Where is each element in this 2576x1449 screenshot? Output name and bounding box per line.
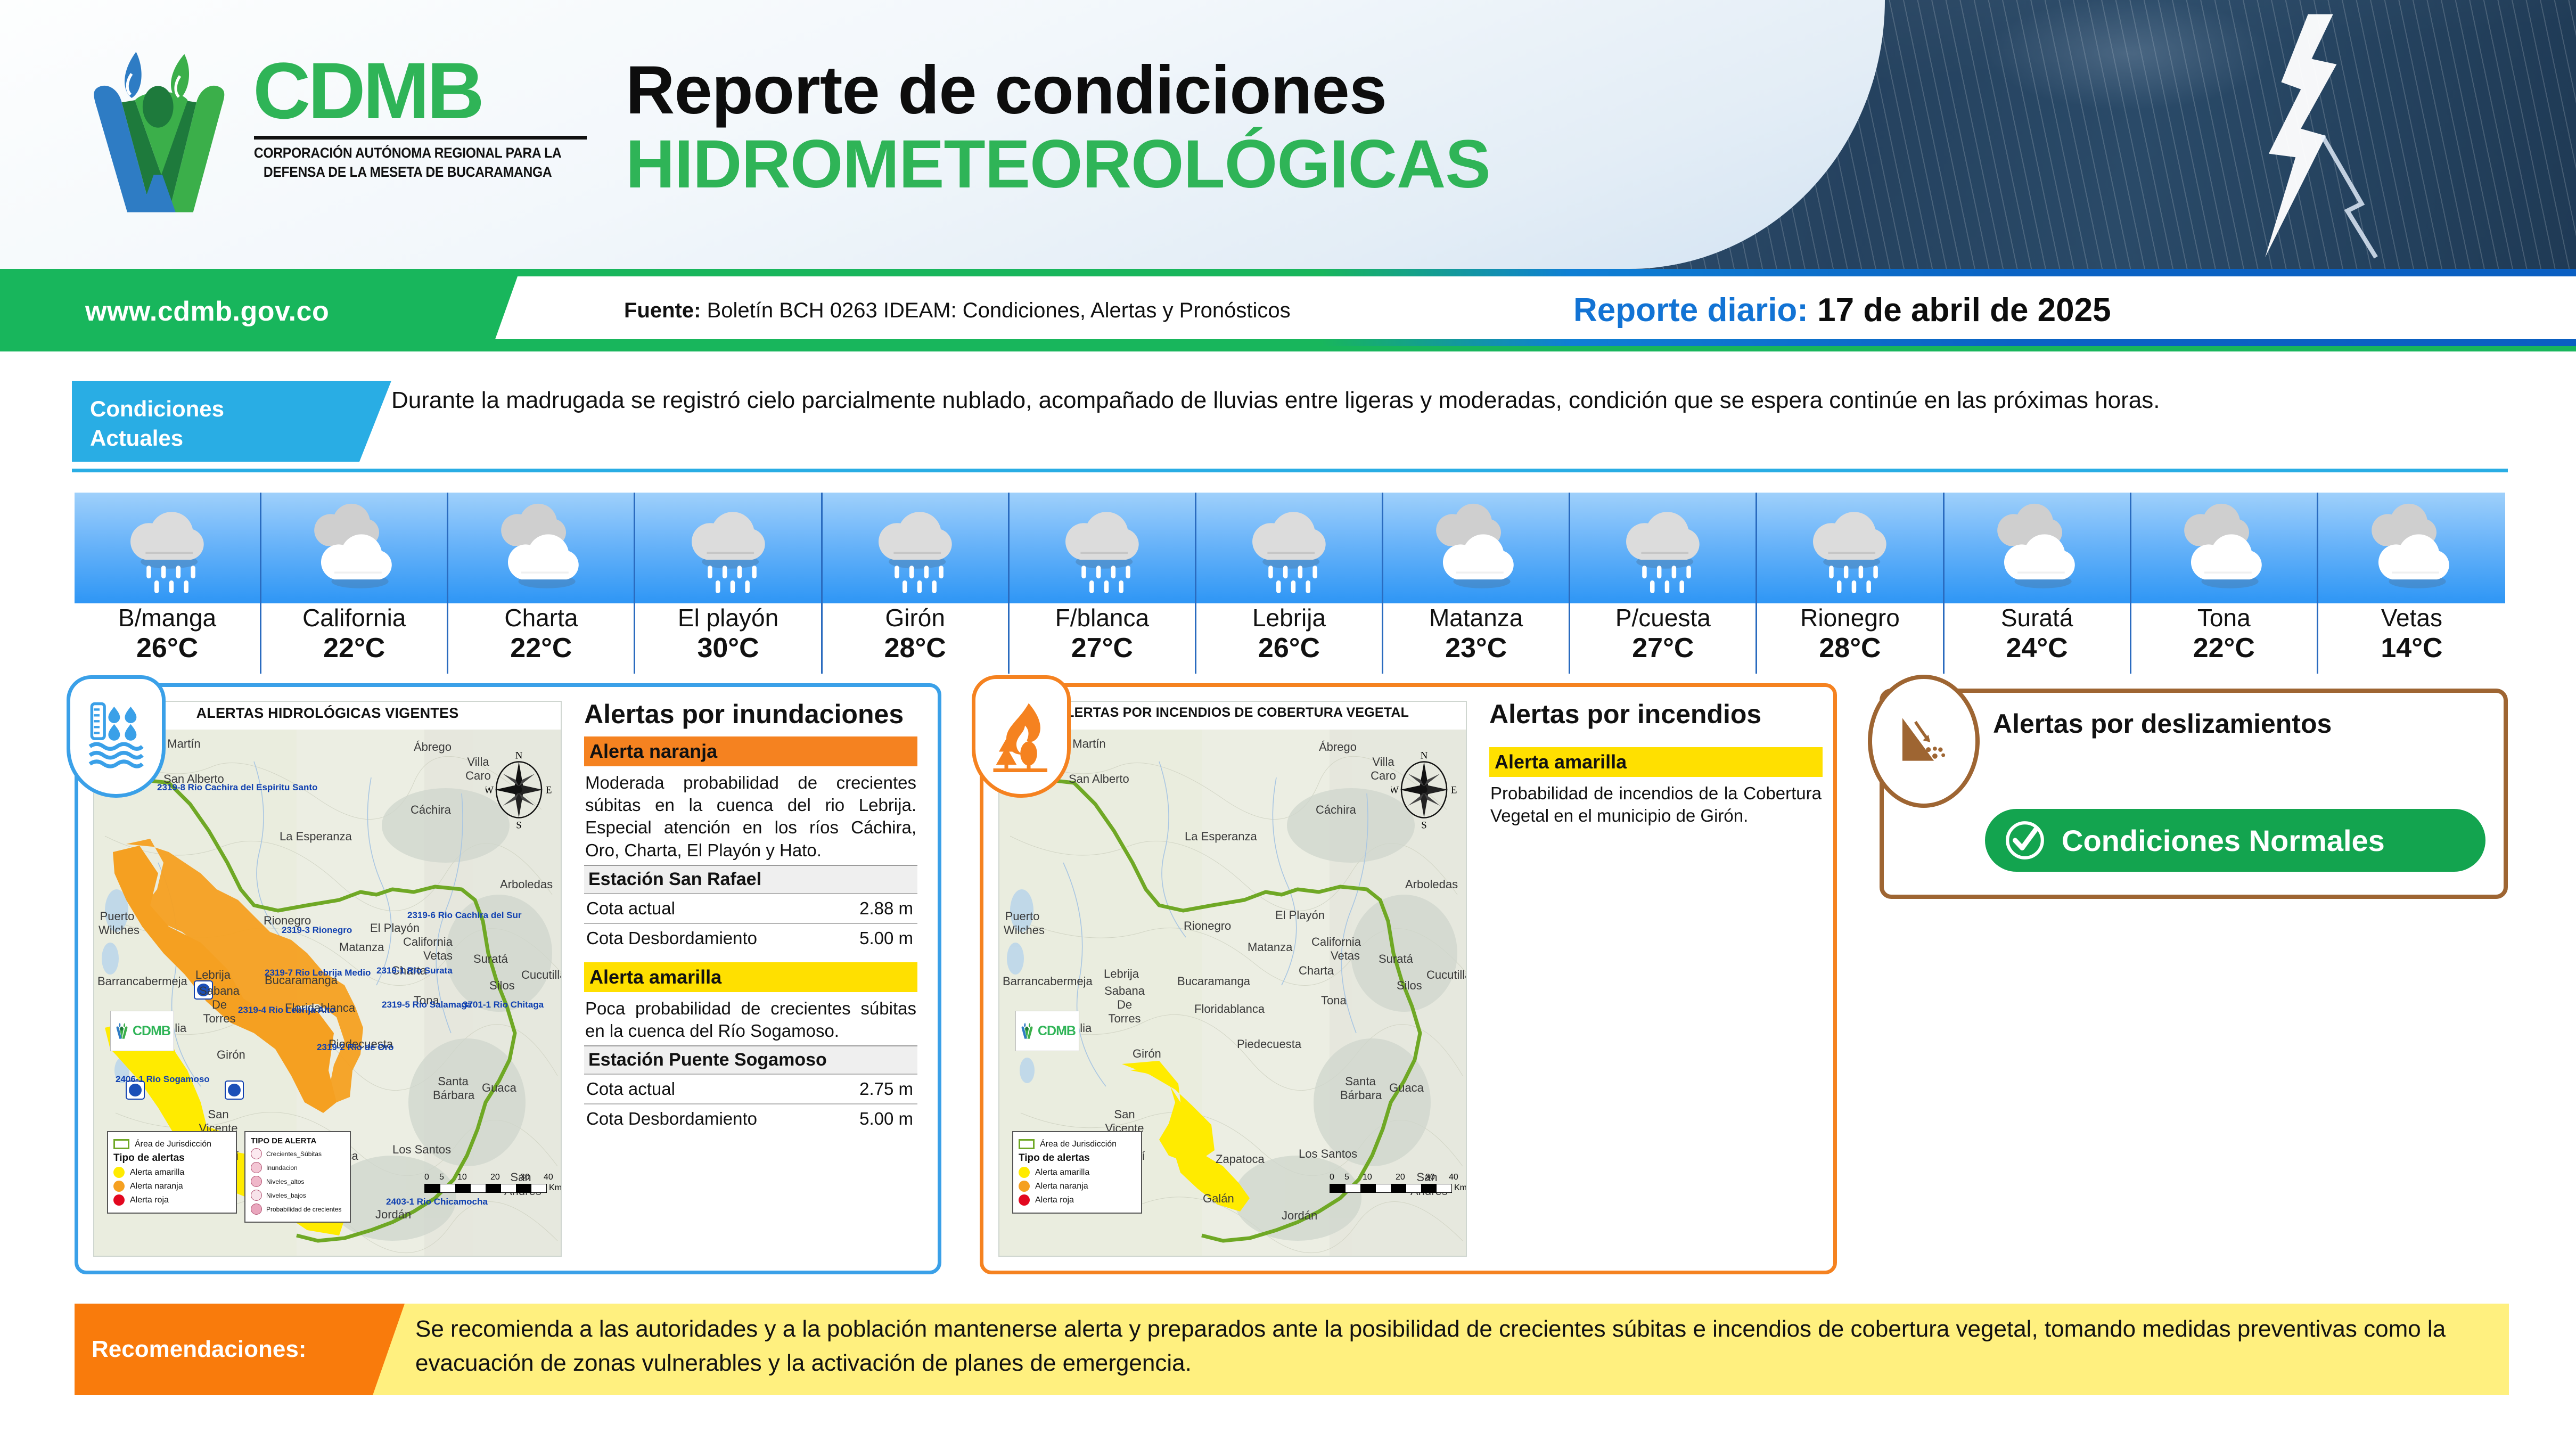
city-temperature: 28°C <box>1819 632 1881 665</box>
map-label-puerto-wilches: Puerto Wilches <box>99 910 136 937</box>
hydro-map-cdmb-logo: CDMB <box>110 1011 174 1051</box>
logo-subtitle-line2: DEFENSA DE LA MESETA DE BUCARAMANGA <box>253 163 562 182</box>
temperature-column: Vetas14°C <box>2318 493 2505 674</box>
temperature-column: Charta22°C <box>448 493 635 674</box>
city-temperature: 26°C <box>136 632 198 665</box>
legend-jurisdiction-label: Área de Jurisdicción <box>1040 1140 1117 1149</box>
legend-dot-red <box>113 1194 125 1206</box>
city-name: Girón <box>885 604 945 632</box>
city-temperature: 22°C <box>323 632 385 665</box>
rain-cloud-icon <box>117 503 218 593</box>
fire-alert-band-yellow: Alerta amarilla <box>1489 747 1823 777</box>
cota-actual-label-2: Cota actual <box>586 1079 675 1099</box>
hydro-map[interactable]: ALERTAS HIDROLÓGICAS VIGENTES <box>93 701 562 1257</box>
legend-dot-red <box>1019 1194 1030 1206</box>
rain-cloud-icon <box>1238 503 1340 593</box>
current-conditions-tab-line2: Actuales <box>90 424 391 453</box>
hydro-map-logo-text: CDMB <box>133 1024 170 1039</box>
scale-tick-30: 30 <box>1425 1173 1435 1182</box>
current-conditions-text: Durante la madrugada se registró cielo p… <box>391 381 2508 462</box>
map-label-galan: Galán <box>1203 1192 1234 1206</box>
map-label-matanza: Matanza <box>339 940 384 954</box>
city-temperature: 30°C <box>697 632 759 665</box>
cota-desbordamiento-value: 5.00 m <box>859 928 913 948</box>
fire-map-scalebar: 0 5 10 20 30 40 Km <box>1330 1173 1467 1193</box>
flood-alert-text-yellow: Poca probabilidad de crecientes súbitas … <box>584 992 917 1045</box>
scale-tick-10: 10 <box>457 1173 467 1182</box>
map-label-vetas: Vetas <box>423 949 453 963</box>
map-label-san-alberto: San Alberto <box>1069 772 1129 786</box>
temperature-meta: California22°C <box>261 603 448 674</box>
city-name: California <box>302 604 406 632</box>
city-name: Matanza <box>1429 604 1523 632</box>
map-label-cucutilla: Cucutilla <box>1426 968 1467 982</box>
map-basin-salamaga: 2319-5 Rio Salamaga <box>382 1000 422 1010</box>
compass-rose-icon: N S W E <box>1391 750 1457 830</box>
title-line-1: Reporte de condiciones <box>626 56 1490 126</box>
city-name: Lebrija <box>1252 604 1326 632</box>
cota-actual-value: 2.88 m <box>859 898 913 919</box>
temperature-column: P/cuesta27°C <box>1570 493 1757 674</box>
legend-type-orange: Alerta naranja <box>130 1182 183 1191</box>
temperature-meta: B/manga26°C <box>75 603 261 674</box>
mini-logo-icon <box>114 1022 130 1040</box>
weather-icon-sky <box>1945 493 2131 603</box>
map-basin-lebrija-medio: 2319-7 Rio Lebrija Medio <box>265 968 305 978</box>
partly-cloudy-icon <box>1987 503 2088 593</box>
rain-cloud-icon <box>1052 503 1153 593</box>
map-label-cucutilla: Cucutilla <box>521 968 562 982</box>
cota-desbordamiento-label: Cota Desbordamiento <box>586 928 757 948</box>
map-label-los-santos: Los Santos <box>392 1143 451 1157</box>
fire-map[interactable]: ALERTAS POR INCENDIOS DE COBERTURA VEGET… <box>998 701 1467 1257</box>
forest-fire-icon <box>991 701 1051 773</box>
fire-map-legend: Área de Jurisdicción Tipo de alertas Ale… <box>1012 1131 1142 1214</box>
weather-icon-sky <box>1010 493 1196 603</box>
map-label-el-playon: El Playón <box>1275 908 1325 922</box>
map-label-surata: Suratá <box>1379 952 1413 966</box>
flood-alerts-text-column: Alertas por inundaciones Alerta naranja … <box>584 700 917 1133</box>
hydro-map-legend: Área de Jurisdicción Tipo de alertas Ale… <box>107 1131 237 1214</box>
jurisdiction-swatch <box>113 1139 129 1149</box>
temperature-strip: B/manga26°C California22°C Charta22°C El… <box>75 493 2505 674</box>
page-title: Reporte de condiciones HIDROMETEOROLÓGIC… <box>626 56 1490 200</box>
landslide-alerts-panel: Alertas por deslizamientos Condiciones N… <box>1880 689 2508 899</box>
alert-kind-0: Crecientes_Súbitas <box>266 1150 322 1158</box>
map-label-california: California <box>403 935 453 949</box>
weather-icon-sky <box>1196 493 1383 603</box>
landslide-status-text: Condiciones Normales <box>2062 823 2385 858</box>
legend-type-red: Alerta roja <box>130 1196 169 1205</box>
cdmb-logo-mark <box>75 45 250 221</box>
city-name: Rionegro <box>1800 604 1900 632</box>
flood-alert-band-yellow: Alerta amarilla <box>584 962 917 992</box>
svg-text:N: N <box>1421 750 1428 761</box>
city-temperature: 28°C <box>884 632 946 665</box>
daily-report-date: 17 de abril de 2025 <box>1817 292 2111 329</box>
city-temperature: 26°C <box>1258 632 1320 665</box>
map-label-abrego: Ábrego <box>1319 740 1357 754</box>
map-label-charta: Charta <box>1299 964 1334 978</box>
scale-bar-graphic <box>1330 1184 1452 1193</box>
temperature-meta: P/cuesta27°C <box>1570 603 1757 674</box>
temperature-meta: Suratá24°C <box>1945 603 2131 674</box>
temperature-column: California22°C <box>261 493 448 674</box>
temperature-column: F/blanca27°C <box>1010 493 1196 674</box>
recommendations-section: Recomendaciones: Se recomienda a las aut… <box>75 1304 2509 1395</box>
temperature-meta: Rionegro28°C <box>1757 603 1944 674</box>
rain-cloud-icon <box>865 503 966 593</box>
map-label-la-esperanza: La Esperanza <box>1185 830 1257 844</box>
table-row: Cota Desbordamiento 5.00 m <box>584 1103 917 1133</box>
map-label-piedecuesta: Piedecuesta <box>1237 1037 1301 1051</box>
fire-panel-heading: Alertas por incendios <box>1489 700 1823 729</box>
temperature-column: Tona22°C <box>2131 493 2318 674</box>
legend-types-title: Tipo de alertas <box>1019 1152 1136 1164</box>
title-line-2: HIDROMETEOROLÓGICAS <box>626 129 1490 200</box>
rain-cloud-icon <box>1799 503 1900 593</box>
map-label-lebrija: Lebrija <box>1104 967 1139 981</box>
cota-desbordamiento-label-2: Cota Desbordamiento <box>586 1109 757 1129</box>
legend-dot-yellow <box>113 1167 125 1178</box>
svg-text:W: W <box>486 784 494 796</box>
hydro-map-alert-kind-legend: TIPO DE ALERTA Crecientes_Súbitas Inunda… <box>244 1131 351 1223</box>
legend-dot-yellow <box>1019 1167 1030 1178</box>
daily-report-line: Reporte diario: 17 de abril de 2025 <box>1573 291 2111 329</box>
partly-cloudy-icon <box>303 503 405 593</box>
svg-text:E: E <box>546 784 552 796</box>
weather-icon-sky <box>635 493 822 603</box>
fire-badge <box>972 675 1071 798</box>
city-temperature: 24°C <box>2006 632 2068 665</box>
weather-icon-sky <box>75 493 261 603</box>
hydro-map-scalebar: 0 5 10 20 30 40 Km <box>424 1173 562 1193</box>
temperature-meta: Matanza23°C <box>1383 603 1570 674</box>
weather-icon-sky <box>1757 493 1944 603</box>
map-basin-sogamoso: 2406-1 Rio Sogamoso <box>116 1075 156 1085</box>
logo-subtitle-line1: CORPORACIÓN AUTÓNOMA REGIONAL PARA LA <box>253 144 562 163</box>
map-label-surata: Suratá <box>473 952 508 966</box>
map-label-los-santos: Los Santos <box>1299 1147 1357 1161</box>
map-label-california: California <box>1311 935 1361 949</box>
flood-badge <box>67 675 166 798</box>
fire-alert-text: Probabilidad de incendios de la Cobertur… <box>1489 777 1823 830</box>
scale-tick-5: 5 <box>1344 1173 1349 1182</box>
page-header: CDMB CORPORACIÓN AUTÓNOMA REGIONAL PARA … <box>0 0 2576 269</box>
current-conditions-underline <box>72 469 2508 472</box>
table-row: Cota actual 2.75 m <box>584 1074 917 1103</box>
scale-bar-graphic <box>424 1184 547 1193</box>
scale-tick-40: 40 <box>544 1173 553 1182</box>
cota-desbordamiento-value-2: 5.00 m <box>859 1109 913 1129</box>
map-label-tona: Tona <box>1321 994 1347 1008</box>
check-circle-icon <box>2003 818 2047 862</box>
recommendations-text: Se recomienda a las autoridades y a la p… <box>415 1312 2503 1380</box>
scale-tick-30: 30 <box>520 1173 530 1182</box>
city-temperature: 27°C <box>1632 632 1694 665</box>
map-label-silos: Silos <box>1397 979 1422 993</box>
map-label-sabana-de-torres: Sabana De Torres <box>196 984 242 1026</box>
alert-kind-icon-0 <box>251 1148 262 1159</box>
map-label-cachira: Cáchira <box>1316 803 1356 817</box>
table-row: Cota actual 2.88 m <box>584 893 917 923</box>
compass-rose-icon: N S W E <box>486 750 552 830</box>
temperature-meta: Lebrija26°C <box>1196 603 1383 674</box>
landslide-panel-heading: Alertas por deslizamientos <box>1993 709 2332 739</box>
partly-cloudy-icon <box>490 503 592 593</box>
temperature-meta: El playón30°C <box>635 603 822 674</box>
info-bar: www.cdmb.gov.co Fuente: Boletín BCH 0263… <box>0 269 2576 346</box>
temperature-meta: Girón28°C <box>823 603 1010 674</box>
fire-alerts-text-column: Alertas por incendios Alerta amarilla Pr… <box>1489 700 1823 830</box>
scale-tick-0: 0 <box>1330 1173 1334 1182</box>
city-name: El playón <box>678 604 778 632</box>
legend-types-title: Tipo de alertas <box>113 1152 231 1164</box>
svg-text:N: N <box>515 750 523 761</box>
map-label-barrancabermeja: Barrancabermeja <box>97 975 187 988</box>
scale-tick-5: 5 <box>439 1173 444 1182</box>
city-name: Vetas <box>2381 604 2442 632</box>
map-label-matanza: Matanza <box>1248 940 1292 954</box>
weather-icon-sky <box>1383 493 1570 603</box>
legend-dot-orange <box>1019 1181 1030 1192</box>
map-label-barrancabermeja: Barrancabermeja <box>1003 975 1093 988</box>
temperature-column: B/manga26°C <box>75 493 261 674</box>
map-label-santa-barbara: Santa Bárbara <box>433 1075 473 1102</box>
current-conditions-tab-line1: Condiciones <box>90 395 391 424</box>
alert-kind-icon-1 <box>251 1162 262 1173</box>
weather-icon-sky <box>1570 493 1757 603</box>
weather-icon-sky <box>823 493 1010 603</box>
lightning-icon <box>2193 11 2416 261</box>
alert-kind-icon-4 <box>251 1204 262 1215</box>
scale-unit: Km <box>549 1183 562 1193</box>
map-basin-lebrija-alto: 2319-4 Rio Lebrija Alto <box>238 1005 285 1016</box>
cota-actual-label: Cota actual <box>586 898 675 919</box>
legend-type-yellow: Alerta amarilla <box>130 1168 184 1177</box>
table-row: Cota Desbordamiento 5.00 m <box>584 923 917 953</box>
logo-divider <box>254 136 587 140</box>
city-temperature: 23°C <box>1445 632 1507 665</box>
legend-type-orange: Alerta naranja <box>1035 1182 1088 1191</box>
scale-unit: Km <box>1454 1183 1467 1193</box>
map-label-santa-barbara: Santa Bárbara <box>1340 1075 1381 1102</box>
weather-icon-sky <box>448 493 635 603</box>
map-label-abrego: Ábrego <box>414 740 452 754</box>
map-label-vetas: Vetas <box>1331 949 1360 963</box>
alert-kind-4: Probabilidad de crecientes <box>266 1206 341 1213</box>
svg-text:S: S <box>1421 820 1426 830</box>
temperature-column: Matanza23°C <box>1383 493 1570 674</box>
flood-alert-band-orange: Alerta naranja <box>584 736 917 766</box>
map-label-giron: Girón <box>1133 1047 1161 1061</box>
alert-kind-icon-2 <box>251 1176 262 1187</box>
mini-logo-icon <box>1019 1022 1035 1040</box>
fire-map-logo-text: CDMB <box>1038 1024 1076 1039</box>
map-label-jordan: Jordán <box>1282 1209 1317 1223</box>
alert-kind-title: TIPO DE ALERTA <box>251 1136 344 1145</box>
fire-alerts-panel: ALERTAS POR INCENDIOS DE COBERTURA VEGET… <box>980 683 1837 1274</box>
jurisdiction-swatch <box>1019 1139 1035 1149</box>
source-text: Boletín BCH 0263 IDEAM: Condiciones, Ale… <box>707 299 1291 322</box>
partly-cloudy-icon <box>2173 503 2275 593</box>
map-basin-cachira-sur: 2319-6 Rio Cachira del Sur <box>407 911 448 921</box>
map-label-bucaramanga: Bucaramanga <box>1177 975 1250 988</box>
legend-type-yellow: Alerta amarilla <box>1035 1168 1089 1177</box>
alert-kind-2: Niveles_altos <box>266 1178 304 1185</box>
legend-jurisdiction-label: Área de Jurisdicción <box>135 1140 211 1149</box>
city-name: F/blanca <box>1055 604 1149 632</box>
scale-tick-40: 40 <box>1449 1173 1458 1182</box>
temperature-meta: F/blanca27°C <box>1010 603 1196 674</box>
map-label-zapatoca: Zapatoca <box>1216 1152 1265 1166</box>
alert-kind-1: Inundacion <box>266 1164 298 1172</box>
temperature-column: Girón28°C <box>823 493 1010 674</box>
source-label: Fuente: <box>624 299 701 322</box>
temperature-meta: Tona22°C <box>2131 603 2318 674</box>
cdmb-logo: CDMB CORPORACIÓN AUTÓNOMA REGIONAL PARA … <box>75 45 612 226</box>
map-label-arboledas: Arboledas <box>500 878 553 891</box>
svg-text:E: E <box>1451 784 1457 796</box>
source-line: Fuente: Boletín BCH 0263 IDEAM: Condicio… <box>624 299 1291 323</box>
flood-alerts-panel: ALERTAS HIDROLÓGICAS VIGENTES <box>75 683 941 1274</box>
current-conditions-section: Condiciones Actuales Durante la madrugad… <box>72 381 2508 462</box>
map-label-guaca: Guaca <box>482 1081 516 1095</box>
map-basin-cachira-espiritu-santo: 2319-8 Rio Cachira del Espiritu Santo <box>157 783 207 793</box>
scale-tick-10: 10 <box>1363 1173 1372 1182</box>
temperature-meta: Charta22°C <box>448 603 635 674</box>
flood-station-san-rafael: Estación San Rafael <box>584 865 917 893</box>
temperature-column: Suratá24°C <box>1945 493 2131 674</box>
svg-text:W: W <box>1391 784 1399 796</box>
map-label-la-esperanza: La Esperanza <box>280 830 352 844</box>
scale-tick-0: 0 <box>424 1173 429 1182</box>
flood-panel-heading: Alertas por inundaciones <box>584 700 917 729</box>
current-conditions-tab: Condiciones Actuales <box>72 381 391 462</box>
daily-report-label: Reporte diario: <box>1573 292 1808 329</box>
flood-alert-text-orange: Moderada probabilidad de crecientes súbi… <box>584 766 917 865</box>
city-temperature: 22°C <box>2193 632 2255 665</box>
city-name: Tona <box>2197 604 2251 632</box>
city-name: B/manga <box>118 604 216 632</box>
landslide-badge <box>1868 675 1980 808</box>
rain-cloud-icon <box>1612 503 1713 593</box>
weather-icon-sky <box>2131 493 2318 603</box>
scale-tick-20: 20 <box>490 1173 500 1182</box>
green-divider <box>0 346 2576 351</box>
map-label-el-playon: El Playón <box>370 921 420 935</box>
partly-cloudy-icon <box>1425 503 1527 593</box>
city-name: Suratá <box>2001 604 2073 632</box>
map-label-guaca: Guaca <box>1389 1081 1424 1095</box>
website-url[interactable]: www.cdmb.gov.co <box>85 296 329 328</box>
map-basin-chicamocha: 2403-1 Rio Chicamocha <box>386 1197 429 1207</box>
scale-tick-20: 20 <box>1396 1173 1405 1182</box>
map-label-rionegro: Rionegro <box>1184 919 1231 933</box>
map-label-silos: Silos <box>489 979 515 993</box>
map-label-puerto-wilches: Puerto Wilches <box>1004 910 1041 937</box>
city-temperature: 14°C <box>2381 632 2442 665</box>
cota-actual-value-2: 2.75 m <box>859 1079 913 1099</box>
logo-wordmark: CDMB <box>253 51 587 130</box>
city-temperature: 27°C <box>1071 632 1133 665</box>
map-label-floridablanca: Floridablanca <box>1194 1002 1265 1016</box>
alert-kind-3: Niveles_bajos <box>266 1192 306 1199</box>
city-name: Charta <box>504 604 578 632</box>
temperature-column: Lebrija26°C <box>1196 493 1383 674</box>
rain-cloud-icon <box>678 503 779 593</box>
partly-cloudy-icon <box>2361 503 2462 593</box>
landslide-icon <box>1891 709 1956 774</box>
fire-map-cdmb-logo: CDMB <box>1015 1011 1079 1051</box>
weather-icon-sky <box>2318 493 2505 603</box>
map-label-arboledas: Arboledas <box>1405 878 1458 891</box>
temperature-column: El playón30°C <box>635 493 822 674</box>
landslide-status-badge: Condiciones Normales <box>1985 809 2485 872</box>
legend-type-red: Alerta roja <box>1035 1196 1074 1205</box>
city-name: P/cuesta <box>1615 604 1711 632</box>
map-label-jordan: Jordán <box>375 1208 411 1222</box>
map-label-lebrija: Lebrija <box>195 968 231 982</box>
alert-kind-icon-3 <box>251 1190 262 1201</box>
recommendations-tab: Recomendaciones: <box>75 1304 405 1395</box>
weather-icon-sky <box>261 493 448 603</box>
water-level-icon <box>87 701 145 773</box>
map-basin-rionegro: 2319-3 Rionegro <box>282 926 320 936</box>
map-basin-chitaga: 3701-1 Rio Chitaga <box>463 1000 503 1010</box>
map-label-cachira: Cáchira <box>411 803 451 817</box>
flood-station-puente-sogamoso: Estación Puente Sogamoso <box>584 1045 917 1074</box>
map-basin-rio-de-oro: 2319-2 Rio de Oro <box>317 1043 357 1053</box>
map-label-sabana-de-torres: Sabana De Torres <box>1102 984 1147 1026</box>
map-label-giron: Girón <box>217 1048 245 1062</box>
svg-text:S: S <box>516 820 521 830</box>
map-basin-surata: 2319-1 Rio Surata <box>376 966 417 976</box>
temperature-column: Rionegro28°C <box>1757 493 1944 674</box>
temperature-meta: Vetas14°C <box>2318 603 2505 674</box>
legend-dot-orange <box>113 1181 125 1192</box>
city-temperature: 22°C <box>510 632 572 665</box>
